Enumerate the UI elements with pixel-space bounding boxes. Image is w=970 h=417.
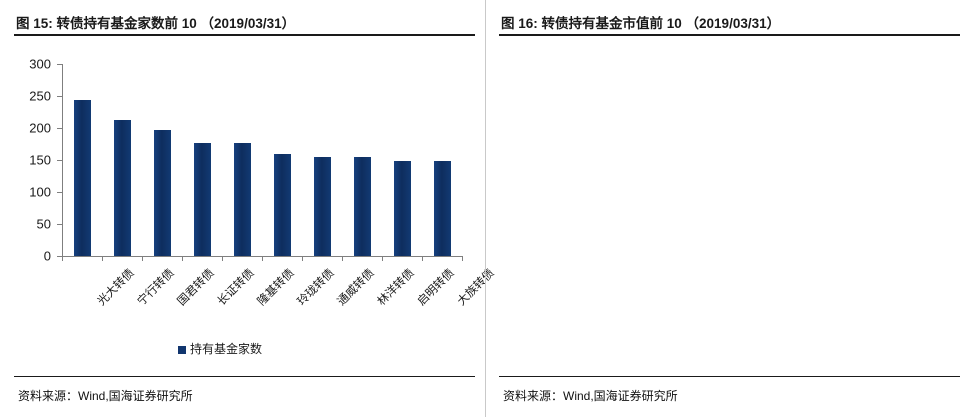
y-axis-tick-label: 300: [17, 57, 51, 72]
y-axis-tick: [57, 192, 62, 193]
bar: [74, 100, 91, 256]
figure-15-title: 图 15: 转债持有基金家数前 10 （2019/03/31）: [16, 12, 295, 32]
x-axis-label: 光大转债: [93, 265, 137, 309]
bar: [154, 130, 171, 256]
legend-item: 持有基金家数: [178, 341, 262, 358]
x-axis-label: 通威转债: [333, 265, 377, 309]
x-axis-tick: [182, 256, 183, 261]
x-axis-label: 国君转债: [173, 265, 217, 309]
y-axis-tick: [57, 224, 62, 225]
x-axis-tick: [342, 256, 343, 261]
y-axis-tick-label: 150: [17, 153, 51, 168]
x-axis-tick: [262, 256, 263, 261]
x-axis-tick: [422, 256, 423, 261]
bar: [234, 143, 251, 256]
figure-16-title: 图 16: 转债持有基金市值前 10 （2019/03/31）: [501, 12, 780, 32]
y-axis-tick: [57, 64, 62, 65]
y-axis-line: [62, 64, 63, 257]
x-axis-tick: [302, 256, 303, 261]
square-marker-icon: [178, 346, 186, 354]
bar: [314, 157, 331, 256]
y-axis-tick: [57, 96, 62, 97]
x-axis-line: [62, 256, 463, 257]
y-axis-tick-label: 250: [17, 89, 51, 104]
x-axis-tick: [382, 256, 383, 261]
x-axis-tick: [142, 256, 143, 261]
x-axis-tick: [222, 256, 223, 261]
bar: [354, 157, 371, 256]
x-axis-label: 长证转债: [213, 265, 257, 309]
bar: [394, 161, 411, 256]
y-axis-tick-label: 100: [17, 185, 51, 200]
figure-16-top-rule: [499, 34, 960, 36]
figure-16-bottom-rule: [499, 376, 960, 378]
figure-15-plot: 050100150200250300光大转债宁行转债国君转债长证转债隆基转债玲珑…: [62, 64, 462, 256]
bar: [114, 120, 131, 256]
x-axis-tick: [462, 256, 463, 261]
figure-15-top-rule: [14, 34, 475, 36]
y-axis-tick-label: 50: [17, 217, 51, 232]
x-axis-label: 林洋转债: [373, 265, 417, 309]
figure-16-panel: 图 16: 转债持有基金市值前 10 （2019/03/31） 01020304…: [485, 0, 970, 417]
figure-15-panel: 图 15: 转债持有基金家数前 10 （2019/03/31） 05010015…: [0, 0, 485, 417]
bar: [194, 143, 211, 256]
figure-16-source: 资料来源：Wind,国海证券研究所: [503, 387, 678, 404]
bar: [274, 154, 291, 256]
y-axis-tick: [57, 160, 62, 161]
bar: [434, 161, 451, 256]
figure-15-legend: 持有基金家数: [178, 341, 262, 358]
x-axis-tick: [102, 256, 103, 261]
y-axis-tick-label: 0: [17, 249, 51, 264]
figures-page: 图 15: 转债持有基金家数前 10 （2019/03/31） 05010015…: [0, 0, 970, 417]
figure-15-source: 资料来源：Wind,国海证券研究所: [18, 387, 193, 404]
x-axis-label: 隆基转债: [253, 265, 297, 309]
x-axis-label: 宁行转债: [133, 265, 177, 309]
x-axis-tick: [62, 256, 63, 261]
y-axis-tick: [57, 128, 62, 129]
x-axis-label: 启明转债: [413, 265, 457, 309]
x-axis-label: 玲珑转债: [293, 265, 337, 309]
figure-15-bottom-rule: [14, 376, 475, 378]
y-axis-tick-label: 200: [17, 121, 51, 136]
legend-item-label: 持有基金家数: [190, 341, 262, 358]
